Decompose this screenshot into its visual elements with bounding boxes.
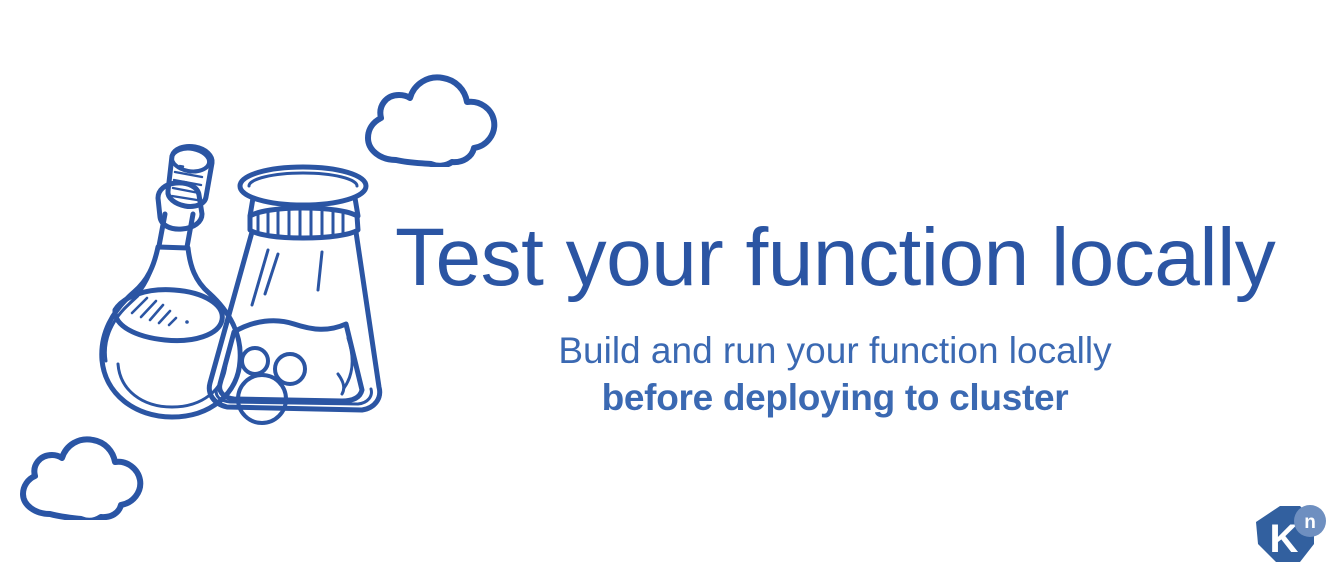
headline-block: Test your function locally Build and run… xyxy=(395,215,1275,422)
cloud-outline-icon xyxy=(8,428,160,520)
subtitle-block: Build and run your function locally befo… xyxy=(395,327,1275,422)
logo-letter-k: K xyxy=(1270,517,1299,561)
laboratory-flasks-illustration xyxy=(62,142,392,432)
page-title: Test your function locally xyxy=(395,215,1275,301)
cloud-outline-icon xyxy=(352,62,512,167)
logo-letter-n: n xyxy=(1304,512,1316,533)
subtitle-line-2: before deploying to cluster xyxy=(395,374,1275,421)
subtitle-line-1: Build and run your function locally xyxy=(395,327,1275,374)
slide-canvas: Test your function locally Build and run… xyxy=(0,0,1341,585)
knative-logo: K n xyxy=(1252,500,1328,576)
